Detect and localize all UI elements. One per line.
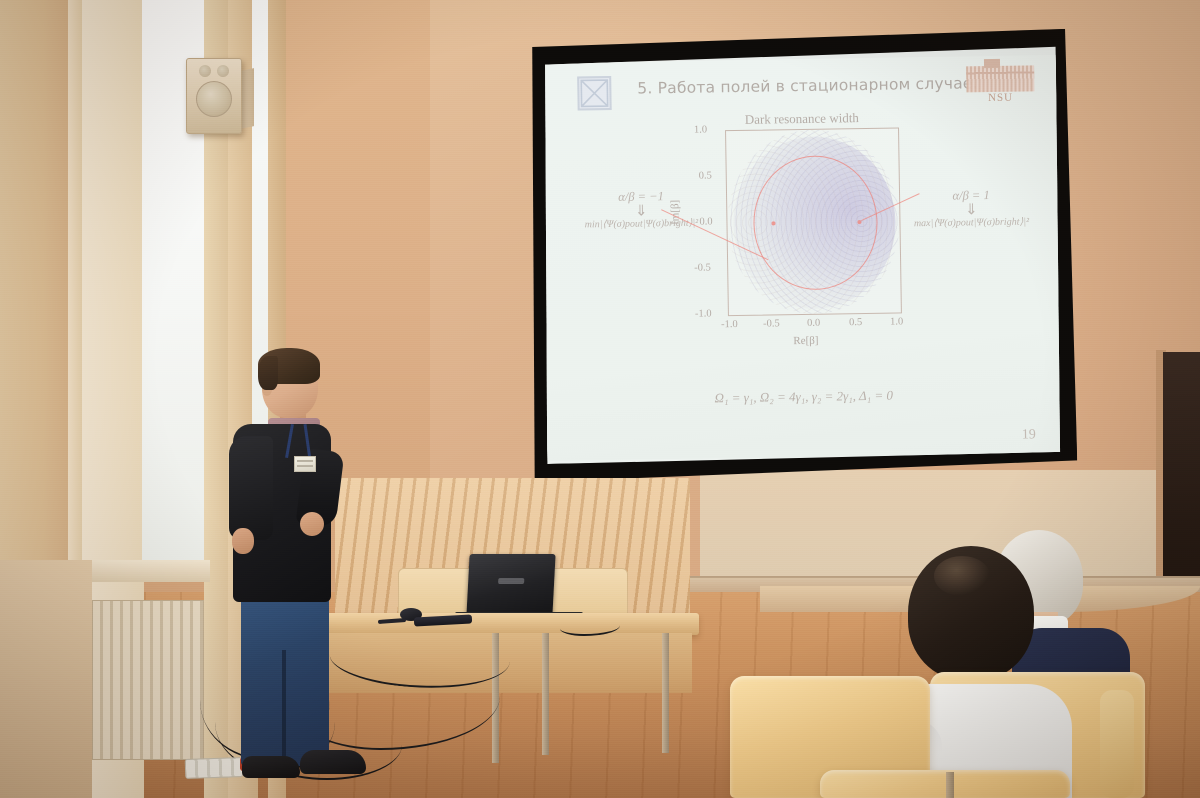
presentation-mark-icon (579, 78, 609, 108)
xtick-1: -0.5 (763, 318, 780, 329)
chair-leg (946, 772, 954, 798)
presenter-hair-side (258, 356, 278, 390)
nsu-building-icon (966, 65, 1034, 92)
presenter-hand (300, 512, 324, 536)
chart-title: Dark resonance width (677, 109, 927, 129)
slide-bottom-equation: Ω₁ = γ₁, Ω₂ = 4γ₁, γ₂ = 2γ₁, Δ₁ = 0 (546, 385, 1061, 409)
radiator (92, 600, 204, 760)
speaker-woofer (196, 81, 232, 117)
annotation-right-expression: max|⟨Ψ(σ)pout|Ψ(σ)bright⟩|² (891, 216, 1051, 230)
xtick-0: -1.0 (721, 319, 738, 330)
nsu-logo-text: NSU (966, 91, 1034, 104)
ytick-4: -1.0 (695, 308, 712, 319)
speaker-tweeter-left (199, 65, 211, 77)
conference-room-photo: 5. Работа полей в стационарном случае. N… (0, 0, 1200, 798)
x-axis-label: Re[β] (793, 335, 818, 347)
presenter-trouser-seam (282, 650, 286, 766)
ytick-0: 1.0 (694, 124, 707, 135)
projection-screen: 5. Работа полей в стационарном случае. N… (526, 29, 1078, 483)
lower-left-wall (0, 560, 92, 798)
laptop-brand-logo (498, 578, 524, 584)
xtick-4: 1.0 (890, 316, 903, 327)
presenter-hand (232, 528, 254, 554)
chart-plot-area (725, 127, 902, 316)
speaker-tweeter-right (217, 65, 229, 77)
presenter-shoe (242, 756, 300, 778)
chair-armrest (1100, 690, 1134, 798)
marker-min-point (771, 221, 775, 225)
projected-slide: 5. Работа полей в стационарном случае. N… (541, 55, 1062, 461)
annotation-left: α/β = −1 ⇓ min|⟨Ψ(σ)pout|Ψ(σ)bright⟩|² (561, 188, 722, 231)
annotation-left-expression: min|⟨Ψ(σ)pout|Ψ(σ)bright⟩|² (561, 217, 721, 231)
xtick-2: 0.0 (807, 318, 820, 329)
laptop[interactable] (466, 554, 555, 616)
audience-member-front-hair-highlight (934, 556, 990, 596)
conference-name-badge (294, 456, 316, 472)
ytick-1: 0.5 (699, 170, 712, 181)
slide-page-number: 19 (1022, 427, 1036, 443)
auditorium-chair-front-row[interactable] (820, 770, 1070, 798)
screen-surface: 5. Работа полей в стационарном случае. N… (541, 46, 1062, 464)
wall-speaker (186, 58, 242, 134)
annotation-right: α/β = 1 ⇓ max|⟨Ψ(σ)pout|Ψ(σ)bright⟩|² (891, 187, 1052, 230)
slide-title: 5. Работа полей в стационарном случае. (637, 74, 967, 97)
window-sill (78, 560, 210, 582)
presenter-sleeve (229, 436, 273, 540)
xtick-3: 0.5 (849, 317, 862, 328)
power-strip[interactable] (185, 757, 244, 779)
desk-leg (662, 633, 669, 753)
desk-leg (542, 633, 549, 755)
presenter-shoe (300, 750, 366, 774)
ytick-3: -0.5 (694, 262, 711, 273)
presentation-mark-logo (577, 76, 612, 111)
nsu-logo: NSU (966, 65, 1035, 108)
